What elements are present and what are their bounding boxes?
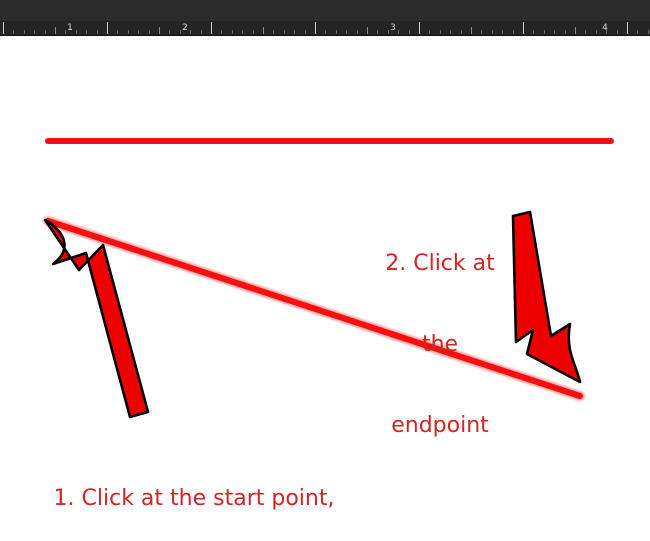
annotation-step-2: 2. Click at the endpoint xyxy=(370,196,510,493)
screenshot-canvas: 1234 2. Click at the endpoint 1. Click a… xyxy=(0,0,650,541)
annotation-step-2-line-1: 2. Click at xyxy=(370,250,510,277)
annotation-step-1: 1. Click at the start point, then hold d… xyxy=(14,426,374,541)
annotation-step-2-line-2: the xyxy=(370,331,510,358)
arrow-pointing-to-endpoint xyxy=(513,212,580,382)
annotation-step-2-line-3: endpoint xyxy=(370,412,510,439)
annotation-step-1-line-1: 1. Click at the start point, xyxy=(14,484,374,513)
